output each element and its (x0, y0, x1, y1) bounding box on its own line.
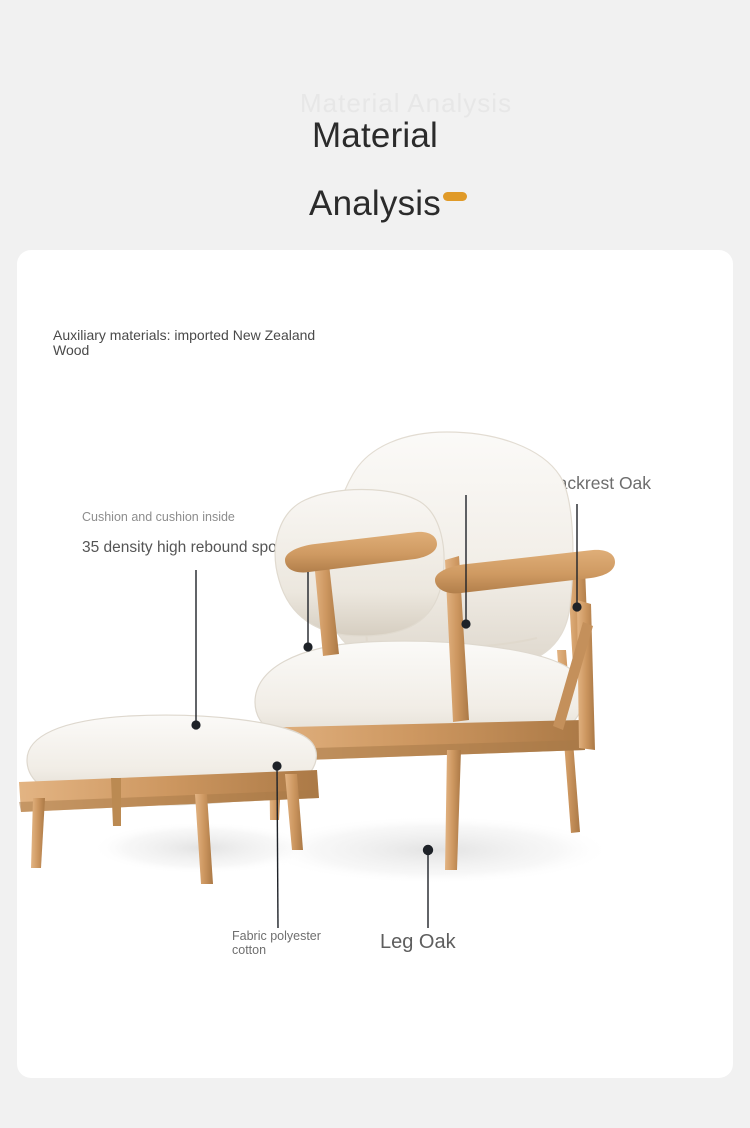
callout-dot-waist-pillow (461, 619, 470, 628)
seat-cushion (255, 641, 584, 754)
chair-leg-front-right (445, 750, 461, 870)
title-text-wrap-1: Material (312, 116, 438, 156)
armrest-post-right (313, 546, 339, 656)
chair-stretcher (553, 622, 593, 730)
armchair (247, 432, 615, 870)
auxiliary-materials-note: Auxiliary materials: imported New Zealan… (53, 328, 353, 358)
chair-leg-back-left (335, 657, 347, 750)
ottoman-leg-front-left (31, 798, 45, 868)
armrest-right (435, 550, 615, 594)
page-title-line-1: Material (0, 116, 750, 156)
chair-seat-rail-shadow (247, 740, 585, 762)
backrest-post-right (567, 562, 589, 670)
title-text-wrap-2: Analysis (309, 184, 441, 224)
callout-dot-backrest (572, 602, 581, 611)
waist-pillow (275, 490, 444, 637)
backrest-cushion-seam (365, 500, 383, 642)
callout-dot-leg (423, 845, 433, 855)
armrest-post-front (445, 556, 469, 722)
callout-label-cushion-sub: Cushion and cushion inside (82, 510, 235, 525)
ottoman-leg-back-left (111, 778, 121, 826)
chair-leg-back-right (557, 650, 580, 833)
page-subtitle: Analysis (309, 184, 441, 223)
accent-underline-bar (443, 192, 467, 201)
callout-leader-lines (196, 495, 577, 928)
callout-dot-cushion (191, 720, 200, 729)
ottoman-leg-back-right (285, 774, 303, 850)
ottoman (19, 715, 319, 884)
backrest-cushion-seam-2 (367, 638, 537, 648)
callout-label-fabric: Fabric polyester cotton (232, 929, 321, 957)
product-illustration (17, 250, 733, 1078)
callout-label-backrest: Backrest Oak (546, 473, 651, 494)
callout-dot-fabric (272, 761, 281, 770)
ottoman-rail-shadow (19, 790, 319, 812)
armrest-post-rear (577, 600, 595, 750)
ottoman-leg-front-right (195, 794, 213, 884)
chair-leg-front-left (269, 740, 283, 820)
floor-shadow-chair (262, 816, 612, 884)
ottoman-rail (19, 770, 319, 812)
material-analysis-card: Auxiliary materials: imported New Zealan… (17, 250, 733, 1078)
callout-label-cushion: 35 density high rebound sponge armrest O… (82, 538, 392, 557)
callout-label-leg: Leg Oak (380, 930, 456, 954)
chair-seat-rail (247, 720, 585, 762)
page-title-line-2: Analysis (0, 184, 750, 224)
ottoman-cushion (27, 715, 316, 805)
callout-dots (191, 602, 581, 855)
page-header: Material Analysis Material Analysis (0, 0, 750, 250)
leader-line-fabric (277, 766, 278, 928)
floor-shadow-ottoman (92, 822, 312, 874)
page-title: Material (312, 116, 438, 155)
callout-label-waist-pillow: Soft doll cotton waist pillow (365, 458, 514, 473)
callout-dot-armrest (303, 642, 312, 651)
